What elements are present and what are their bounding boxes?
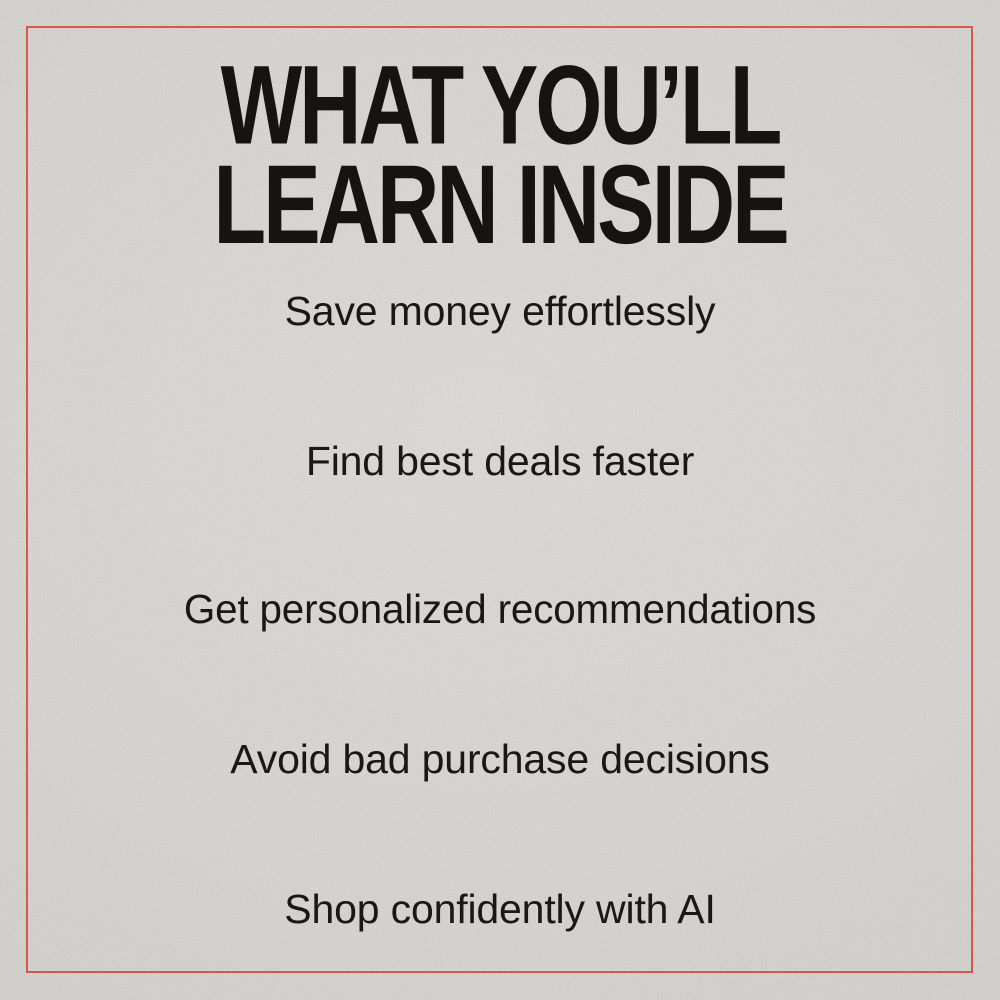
headline-line-2: LEARN INSIDE [100,154,900,253]
headline-line-1: WHAT YOU’LL [100,55,900,154]
poster-canvas: WHAT YOU’LL LEARN INSIDE Save money effo… [0,0,1000,1000]
benefit-item-3: Get personalized recommendations [8,586,993,633]
poster-content: WHAT YOU’LL LEARN INSIDE Save money effo… [0,0,1000,1000]
benefit-item-1: Save money effortlessly [0,288,1000,335]
benefit-item-4: Avoid bad purchase decisions [0,736,1000,783]
benefit-item-2: Find best deals faster [0,438,1000,485]
page-title: WHAT YOU’LL LEARN INSIDE [100,55,900,254]
headline-block: WHAT YOU’LL LEARN INSIDE [0,55,1000,246]
benefit-item-5: Shop confidently with AI [0,886,1000,933]
